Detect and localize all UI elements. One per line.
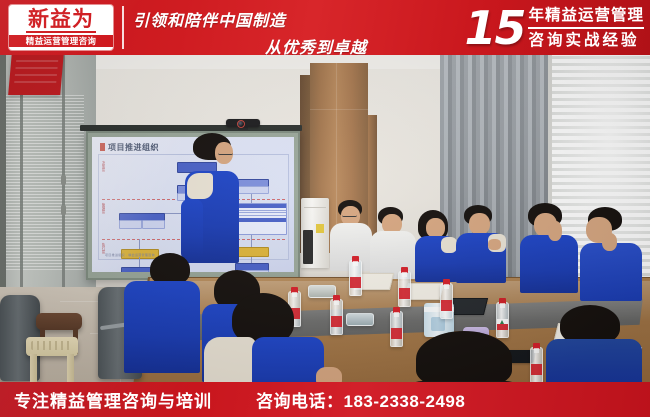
logo-sub-text: 精益运营管理咨询 xyxy=(9,35,113,47)
arm xyxy=(181,199,203,261)
bottle-neck xyxy=(334,300,339,305)
hand xyxy=(548,221,562,241)
years-line-2: 咨询实战经验 xyxy=(528,31,644,50)
torso xyxy=(546,339,642,382)
hand xyxy=(602,233,617,251)
video-camera-icon xyxy=(226,119,260,127)
red-wall-banner xyxy=(8,55,64,95)
years-number: 15 xyxy=(464,5,524,51)
glass-hinge xyxy=(61,205,66,215)
water-bottle xyxy=(496,302,509,338)
years-text: 年精益运营管理 咨询实战经验 xyxy=(528,6,644,50)
uniform-shoulder-panel xyxy=(204,337,256,382)
uniform-shoulder-panel xyxy=(441,237,457,253)
ac-line xyxy=(304,207,326,208)
water-bottle xyxy=(349,260,362,296)
glass-hinge xyxy=(61,175,66,185)
glasses xyxy=(342,213,357,217)
bottle-label xyxy=(399,288,410,299)
bottle-label xyxy=(350,277,361,288)
water-bottle xyxy=(440,283,453,319)
slogan-line-1: 引领和陪伴中国制造 xyxy=(133,7,373,31)
torso xyxy=(252,337,324,382)
tissue-art xyxy=(431,317,445,331)
logo-main-text: 新益为 xyxy=(26,8,96,33)
bottle-neck xyxy=(444,284,449,289)
hand xyxy=(488,239,501,250)
bottle-neck xyxy=(394,312,399,317)
torso xyxy=(124,281,200,373)
bottle-neck xyxy=(534,348,539,353)
face xyxy=(469,213,490,235)
torso xyxy=(580,243,642,301)
air-conditioner xyxy=(301,198,329,268)
years-line-1: 年精益运营管理 xyxy=(528,6,644,25)
ac-label xyxy=(316,224,324,233)
cabinet-seam xyxy=(310,109,368,110)
glass-ashtray xyxy=(308,285,336,298)
water-bottle xyxy=(398,271,411,307)
stool-leg xyxy=(67,354,74,382)
face xyxy=(426,218,445,238)
glass-ashtray xyxy=(346,313,374,326)
bottle-label xyxy=(497,319,508,330)
stool-leg xyxy=(30,354,37,382)
years-rule xyxy=(528,27,644,29)
brown-stool xyxy=(36,313,82,330)
header-slogan: 引领和陪伴中国制造 从优秀到卓越 xyxy=(133,4,373,52)
water-bottle xyxy=(390,311,403,347)
bottle-neck xyxy=(402,272,407,277)
bottle-neck xyxy=(500,303,505,308)
hand xyxy=(316,367,342,382)
meeting-photo: 项目推进组织 决策层 管理层 执行层 xyxy=(0,55,650,382)
bottle-label xyxy=(531,364,542,375)
cream-plastic-stool xyxy=(26,337,78,356)
stool-slots xyxy=(31,341,73,350)
footer-banner: 专注精益管理咨询与培训 咨询电话：183-2338-2498 xyxy=(0,382,650,417)
torso xyxy=(520,235,578,293)
footer-left-text: 专注精益管理咨询与培训 xyxy=(14,387,212,412)
footer-contact-text: 咨询电话：183-2338-2498 xyxy=(256,387,465,412)
screenshot-root: 新益为 精益运营管理咨询 引领和陪伴中国制造 从优秀到卓越 15 年精益运营管理… xyxy=(0,0,650,417)
ac-vent xyxy=(303,230,313,264)
bottle-neck xyxy=(353,261,358,266)
water-bottle xyxy=(530,347,543,382)
glasses xyxy=(218,151,233,155)
glass-texture xyxy=(6,95,84,270)
header-divider xyxy=(122,6,124,49)
header-years-block: 15 年精益运营管理 咨询实战经验 xyxy=(464,1,644,54)
bottle-label xyxy=(441,300,452,311)
hair xyxy=(416,331,512,382)
bottle-neck xyxy=(292,292,297,297)
bottle-label xyxy=(391,328,402,339)
camera-lens-icon xyxy=(237,120,245,128)
slogan-line-2: 从优秀到卓越 xyxy=(133,34,373,55)
bottle-label xyxy=(331,316,342,327)
header-banner: 新益为 精益运营管理咨询 引领和陪伴中国制造 从优秀到卓越 15 年精益运营管理… xyxy=(0,0,650,55)
xinyiwei-logo: 新益为 精益运营管理咨询 xyxy=(9,5,113,50)
water-bottle xyxy=(330,299,343,335)
uniform-shoulder-panel xyxy=(187,173,213,199)
